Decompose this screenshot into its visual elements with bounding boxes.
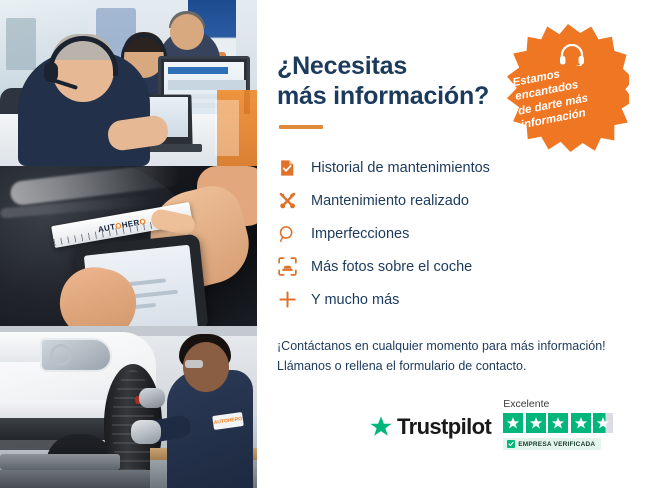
feature-label: Historial de mantenimientos — [311, 160, 490, 176]
contact-line1: ¡Contáctanos en cualquier momento para m… — [277, 336, 650, 356]
trustpilot-wordmark: Trustpilot — [397, 414, 491, 440]
car-bumper — [0, 400, 116, 420]
agent-background-head — [170, 14, 204, 50]
star-rating — [503, 413, 613, 433]
star-icon — [548, 413, 568, 433]
title-underline — [279, 125, 323, 129]
photo-column: AUTOHERO AUTO — [0, 0, 257, 488]
wheel-inspection-photo: AUTOHERO — [0, 326, 257, 488]
call-center-agents-photo — [0, 0, 257, 166]
star-icon — [503, 413, 523, 433]
feature-item-fotos[interactable]: Más fotos sobre el coche — [277, 250, 650, 283]
car-scan-icon — [277, 257, 297, 277]
work-glove-upper — [139, 388, 165, 408]
car-lift-base — [0, 470, 150, 488]
content-panel: ¿Necesitas más información? Estamos enca… — [257, 0, 650, 488]
star-icon — [571, 413, 591, 433]
feature-list: Historial de mantenimientos Mantenimient… — [277, 151, 650, 316]
trustpilot-logo: Trustpilot — [369, 414, 491, 450]
verified-label: EMPRESA VERIFICADA — [518, 441, 595, 448]
car-lift-arm — [0, 454, 120, 470]
screen-row — [168, 80, 246, 90]
magnifier-icon — [277, 224, 297, 244]
window-mullion — [6, 18, 36, 70]
info-promo-card: AUTOHERO AUTO — [0, 0, 650, 488]
feature-item-imperfecciones[interactable]: Imperfecciones — [277, 217, 650, 250]
verified-badge: EMPRESA VERIFICADA — [503, 438, 601, 450]
feature-label: Imperfecciones — [311, 226, 409, 242]
safety-glasses — [185, 360, 203, 368]
feature-label: Mantenimiento realizado — [311, 193, 469, 209]
orange-equipment-highlight — [215, 100, 239, 156]
feature-item-mas[interactable]: Y mucho más — [277, 283, 650, 316]
star-icon-partial — [593, 413, 613, 433]
headlight-ring — [50, 344, 72, 366]
check-icon — [507, 440, 515, 448]
page-title-line2: más información? — [277, 82, 489, 110]
star-icon — [526, 413, 546, 433]
work-glove-lower — [131, 420, 161, 444]
plus-icon — [277, 290, 297, 310]
page-title-line1: ¿Necesitas — [277, 52, 407, 80]
feature-item-mantenimiento[interactable]: Mantenimiento realizado — [277, 184, 650, 217]
feature-label: Y mucho más — [311, 292, 399, 308]
car-inspection-ruler-photo: AUTOHERO — [0, 166, 257, 326]
document-check-icon — [277, 158, 297, 178]
trustpilot-widget[interactable]: Trustpilot Excelente — [369, 398, 613, 450]
support-badge: Estamos encantados de darte más informac… — [507, 24, 629, 152]
tools-cross-icon — [277, 191, 297, 211]
contact-copy: ¡Contáctanos en cualquier momento para m… — [277, 336, 650, 377]
rating-label: Excelente — [503, 398, 549, 410]
feature-item-historial[interactable]: Historial de mantenimientos — [277, 151, 650, 184]
trustpilot-star-icon — [369, 415, 393, 439]
feature-label: Más fotos sobre el coche — [311, 259, 472, 275]
contact-line2: Llámanos o rellena el formulario de cont… — [277, 356, 650, 376]
trustpilot-rating: Excelente — [503, 398, 613, 450]
screen-header-bar — [168, 67, 228, 74]
